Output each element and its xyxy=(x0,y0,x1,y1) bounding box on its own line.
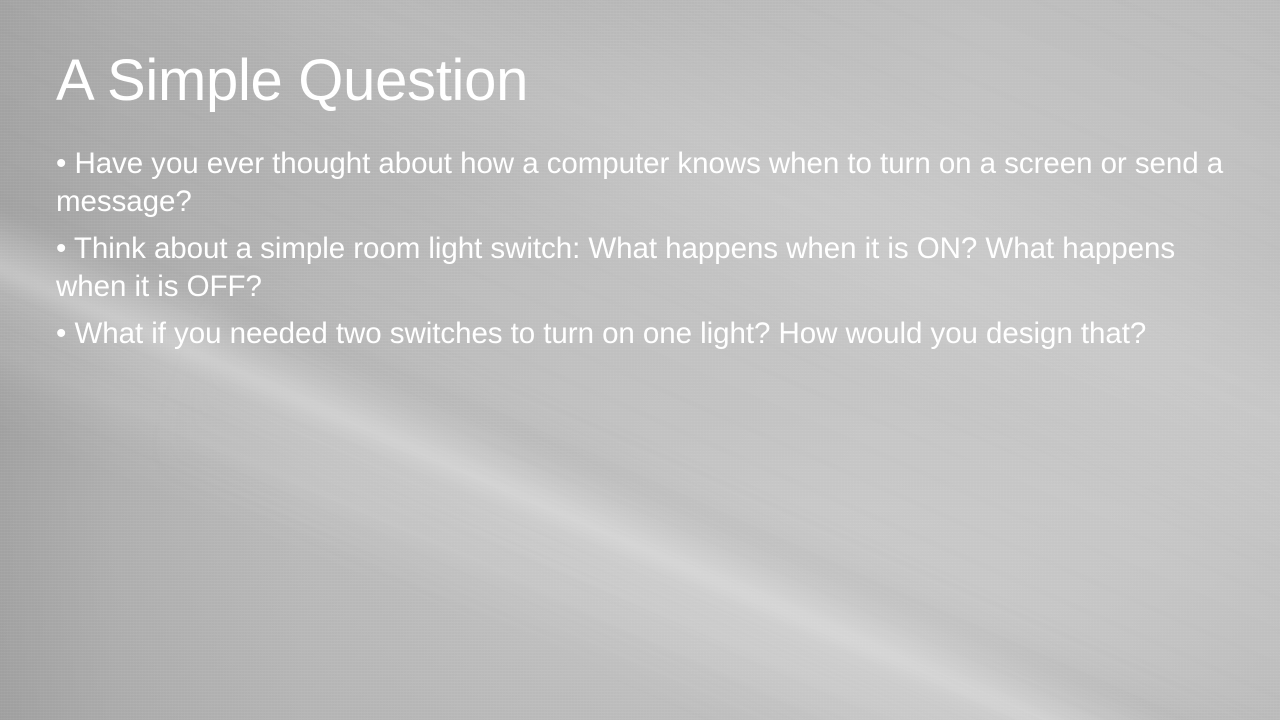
bullet-point-icon: • xyxy=(56,317,74,350)
slide-content: A Simple Question • Have you ever though… xyxy=(0,0,1280,720)
bullet-list-item: • Have you ever thought about how a comp… xyxy=(56,145,1236,221)
bullet-point-icon: • xyxy=(56,147,74,180)
bullet-point-icon: • xyxy=(56,232,74,265)
bullet-item-text: What if you needed two switches to turn … xyxy=(74,317,1146,350)
bullet-item-text: Think about a simple room light switch: … xyxy=(56,232,1175,303)
bullet-list-item: • What if you needed two switches to tur… xyxy=(56,315,1236,353)
bullet-list-item: • Think about a simple room light switch… xyxy=(56,230,1236,306)
bullet-item-text: Have you ever thought about how a comput… xyxy=(56,147,1223,218)
slide-title: A Simple Question xyxy=(56,52,1226,110)
presentation-slide: A Simple Question • Have you ever though… xyxy=(0,0,1280,720)
slide-body-bullet-list: • Have you ever thought about how a comp… xyxy=(56,145,1236,353)
